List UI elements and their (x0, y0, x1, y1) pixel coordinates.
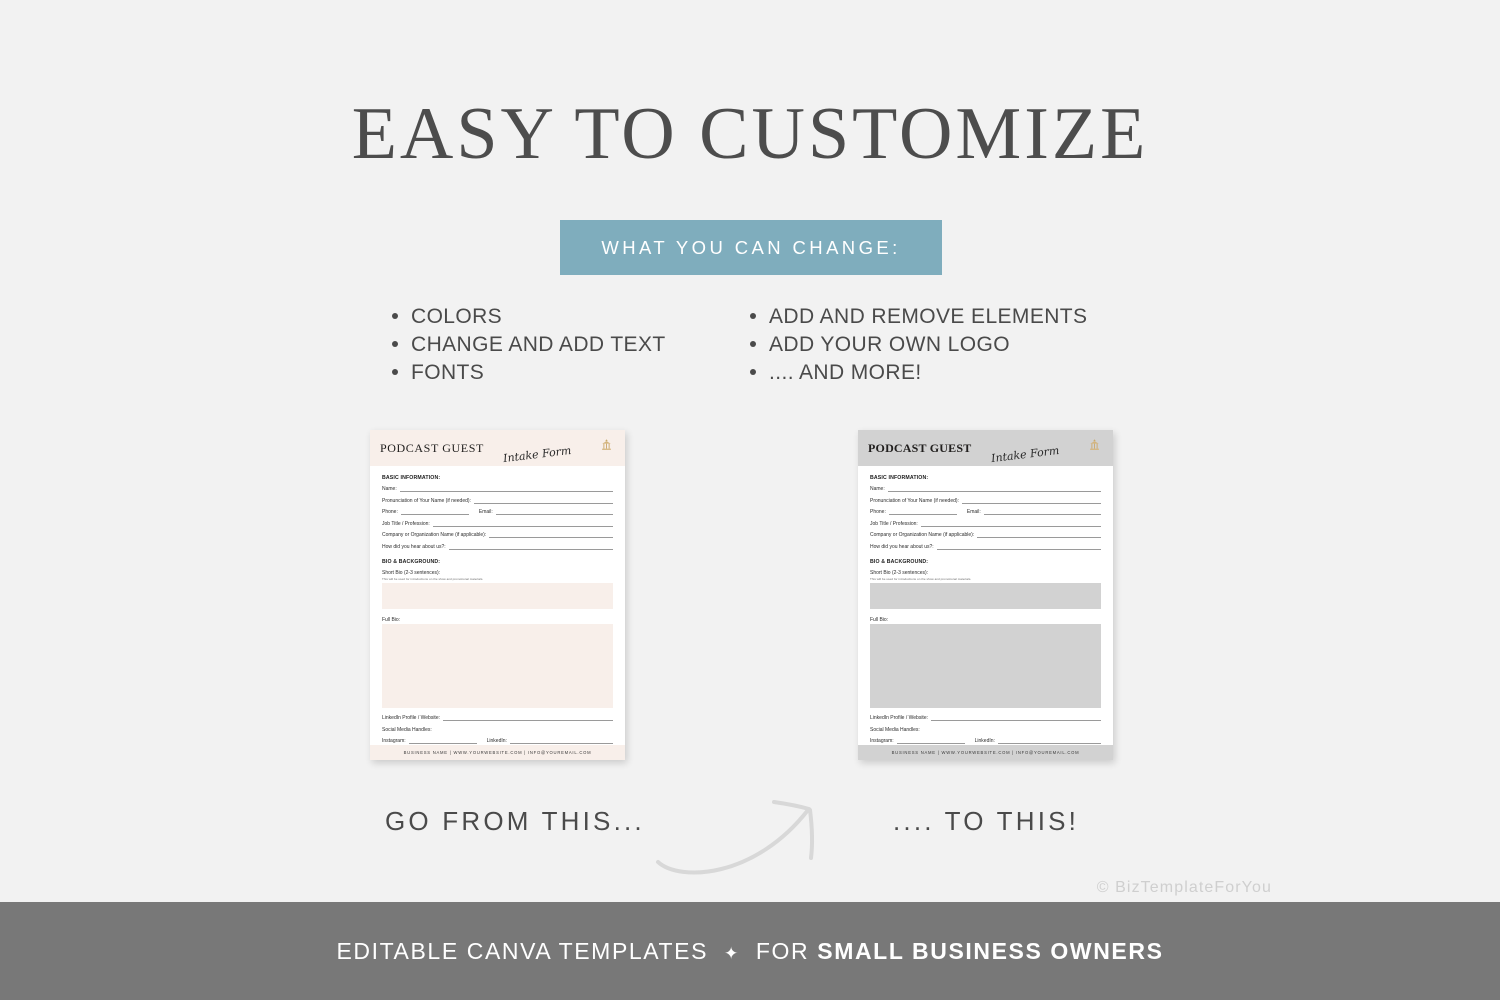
bullet-dot-icon (750, 369, 756, 375)
bottom-bar-middle: FOR (756, 938, 809, 964)
list-item-label: CHANGE AND ADD TEXT (411, 331, 666, 359)
field-phone-email: Phone: Email: (382, 509, 613, 515)
field-line[interactable] (897, 738, 965, 744)
field-line[interactable] (977, 532, 1101, 538)
field-line[interactable] (443, 715, 613, 721)
bullet-dot-icon (392, 341, 398, 347)
caption-go-from-this: GO FROM THIS... (385, 806, 645, 837)
field-pronunciation: Pronunciation of Your Name (if needed): (382, 498, 613, 504)
field-label: LinkedIn Profile / Website: (870, 715, 928, 721)
field-line[interactable] (496, 509, 613, 515)
field-label: LinkedIn: (975, 738, 995, 744)
field-line[interactable] (998, 738, 1101, 744)
field-instagram-linkedin: Instagram: LinkedIn: (382, 738, 613, 744)
document-footer: BUSINESS NAME | WWW.YOURWEBSITE.COM | IN… (370, 745, 625, 760)
document-preview-customized[interactable]: PODCAST GUEST Intake Form BASIC INFORMAT… (858, 430, 1113, 760)
document-subtitle-script: Intake Form (502, 444, 572, 465)
banner-label: WHAT YOU CAN CHANGE: (601, 237, 900, 259)
field-line[interactable] (400, 486, 613, 492)
what-you-can-change-banner: WHAT YOU CAN CHANGE: (560, 220, 942, 275)
short-bio-box[interactable] (382, 583, 613, 609)
field-line[interactable] (889, 509, 957, 515)
field-pronunciation: Pronunciation of Your Name (if needed): (870, 498, 1101, 504)
list-item: COLORS (392, 303, 666, 331)
field-label: Phone: (870, 509, 886, 515)
short-bio-note: This will be used for introductions on t… (870, 577, 1101, 581)
field-name: Name: (382, 486, 613, 492)
document-subtitle-script: Intake Form (990, 444, 1060, 465)
feature-list-left: COLORS CHANGE AND ADD TEXT FONTS (392, 303, 666, 387)
field-line[interactable] (921, 521, 1101, 527)
bottom-bar: EDITABLE CANVA TEMPLATES ✦ FOR SMALL BUS… (0, 902, 1500, 1000)
field-company: Company or Organization Name (if applica… (382, 532, 613, 538)
field-label: Name: (382, 486, 397, 492)
document-body: BASIC INFORMATION: Name: Pronunciation o… (370, 466, 625, 756)
curved-arrow-icon (650, 790, 870, 885)
social-handles-label-row: Social Media Handles: (382, 727, 613, 733)
full-bio-label: Full Bio: (382, 617, 613, 623)
field-label: LinkedIn: (487, 738, 507, 744)
bottom-bar-strong: SMALL BUSINESS OWNERS (817, 938, 1163, 964)
field-label: Job Title / Profession: (382, 521, 430, 527)
field-label: How did you hear about us?: (382, 544, 446, 550)
section-title-basic: BASIC INFORMATION: (382, 475, 613, 481)
field-linkedin-website: LinkedIn Profile / Website: (382, 715, 613, 721)
bullet-dot-icon (750, 341, 756, 347)
field-line[interactable] (474, 498, 613, 504)
field-label: Pronunciation of Your Name (if needed): (382, 498, 471, 504)
document-title: PODCAST GUEST (380, 441, 484, 456)
bullet-dot-icon (392, 313, 398, 319)
field-label: Name: (870, 486, 885, 492)
list-item-label: ADD YOUR OWN LOGO (769, 331, 1010, 359)
field-line[interactable] (449, 544, 613, 550)
caption-to-this: .... TO THIS! (893, 806, 1079, 837)
field-label: Company or Organization Name (if applica… (870, 532, 974, 538)
section-title-bio: BIO & BACKGROUND: (870, 559, 1101, 565)
bullet-dot-icon (392, 369, 398, 375)
field-how-did-you-hear: How did you hear about us?: (382, 544, 613, 550)
bottom-bar-prefix: EDITABLE CANVA TEMPLATES (336, 938, 708, 964)
field-label: LinkedIn Profile / Website: (382, 715, 440, 721)
document-preview-original[interactable]: PODCAST GUEST Intake Form BASIC INFORMAT… (370, 430, 625, 760)
short-bio-label: Short Bio (2-3 sentences): (870, 570, 1101, 576)
field-line[interactable] (888, 486, 1101, 492)
field-line[interactable] (401, 509, 469, 515)
field-line[interactable] (433, 521, 613, 527)
document-title: PODCAST GUEST (868, 441, 971, 456)
field-line[interactable] (489, 532, 613, 538)
field-job-title: Job Title / Profession: (870, 521, 1101, 527)
section-title-bio: BIO & BACKGROUND: (382, 559, 613, 565)
field-label: Job Title / Profession: (870, 521, 918, 527)
field-label: How did you hear about us?: (870, 544, 934, 550)
field-linkedin-website: LinkedIn Profile / Website: (870, 715, 1101, 721)
social-handles-label-row: Social Media Handles: (870, 727, 1101, 733)
list-item-label: ADD AND REMOVE ELEMENTS (769, 303, 1087, 331)
field-instagram-linkedin: Instagram: LinkedIn: (870, 738, 1101, 744)
field-line[interactable] (984, 509, 1101, 515)
field-line[interactable] (937, 544, 1101, 550)
field-company: Company or Organization Name (if applica… (870, 532, 1101, 538)
document-footer-text: BUSINESS NAME | WWW.YOURWEBSITE.COM | IN… (892, 750, 1080, 755)
bottom-bar-text: EDITABLE CANVA TEMPLATES ✦ FOR SMALL BUS… (336, 938, 1163, 965)
field-how-did-you-hear: How did you hear about us?: (870, 544, 1101, 550)
list-item: .... AND MORE! (750, 359, 1087, 387)
watermark: © BizTemplateForYou (1097, 879, 1272, 897)
short-bio-note: This will be used for introductions on t… (382, 577, 613, 581)
field-label: Phone: (382, 509, 398, 515)
page-title: EASY TO CUSTOMIZE (0, 92, 1500, 177)
section-title-basic: BASIC INFORMATION: (870, 475, 1101, 481)
field-label: Instagram: (382, 738, 406, 744)
field-label: Pronunciation of Your Name (if needed): (870, 498, 959, 504)
field-line[interactable] (931, 715, 1101, 721)
field-label: Email: (479, 509, 493, 515)
full-bio-box[interactable] (382, 624, 613, 708)
list-item-label: FONTS (411, 359, 484, 387)
field-label: Social Media Handles: (382, 727, 432, 733)
list-item: ADD AND REMOVE ELEMENTS (750, 303, 1087, 331)
list-item: CHANGE AND ADD TEXT (392, 331, 666, 359)
document-header: PODCAST GUEST Intake Form (858, 430, 1113, 466)
field-phone-email: Phone: Email: (870, 509, 1101, 515)
crest-logo-icon (599, 438, 614, 453)
field-job-title: Job Title / Profession: (382, 521, 613, 527)
field-line[interactable] (962, 498, 1101, 504)
field-label: Social Media Handles: (870, 727, 920, 733)
document-body: BASIC INFORMATION: Name: Pronunciation o… (858, 466, 1113, 756)
field-name: Name: (870, 486, 1101, 492)
list-item-label: COLORS (411, 303, 502, 331)
field-label: Instagram: (870, 738, 894, 744)
full-bio-box[interactable] (870, 624, 1101, 708)
document-footer-text: BUSINESS NAME | WWW.YOURWEBSITE.COM | IN… (404, 750, 592, 755)
short-bio-box[interactable] (870, 583, 1101, 609)
document-header: PODCAST GUEST Intake Form (370, 430, 625, 466)
list-item-label: .... AND MORE! (769, 359, 922, 387)
document-footer: BUSINESS NAME | WWW.YOURWEBSITE.COM | IN… (858, 745, 1113, 760)
list-item: ADD YOUR OWN LOGO (750, 331, 1087, 359)
feature-list-right: ADD AND REMOVE ELEMENTS ADD YOUR OWN LOG… (750, 303, 1087, 387)
full-bio-label: Full Bio: (870, 617, 1101, 623)
field-line[interactable] (409, 738, 477, 744)
short-bio-label: Short Bio (2-3 sentences): (382, 570, 613, 576)
bullet-dot-icon (750, 313, 756, 319)
field-label: Email: (967, 509, 981, 515)
field-line[interactable] (510, 738, 613, 744)
list-item: FONTS (392, 359, 666, 387)
field-label: Company or Organization Name (if applica… (382, 532, 486, 538)
crest-logo-icon (1087, 438, 1102, 453)
diamond-icon: ✦ (724, 944, 740, 963)
